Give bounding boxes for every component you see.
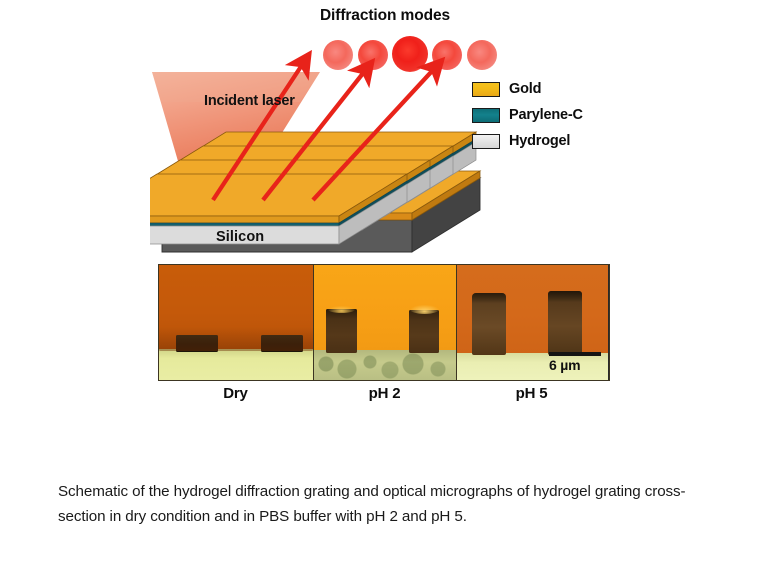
panel-caption-ph2: pH 2: [313, 385, 456, 402]
hydrogel-swatch-icon: [472, 134, 500, 149]
legend-label-gold: Gold: [509, 81, 541, 97]
incident-laser-label: Incident laser: [204, 93, 295, 109]
micrograph-panel-dry: [159, 265, 314, 380]
legend-label-hydrogel: Hydrogel: [509, 133, 570, 149]
legend-item-hydrogel: Hydrogel: [472, 129, 622, 153]
scale-bar: 6 µm: [549, 352, 605, 373]
hydrogel-cross-section: [326, 309, 357, 353]
panel-substrate: [159, 349, 313, 380]
panel-caption-dry: Dry: [158, 385, 313, 402]
silicon-label: Silicon: [216, 229, 264, 245]
legend-label-parylene: Parylene-C: [509, 107, 583, 123]
block-edge-shadow: [548, 291, 582, 302]
hydrogel-cross-section: [409, 310, 439, 353]
gold-swatch-icon: [472, 82, 500, 97]
scale-bar-line: [549, 352, 601, 356]
micrograph-strip: [158, 264, 610, 381]
panel-caption-ph5: pH 5: [456, 385, 607, 402]
panel-shadow-band: [159, 327, 313, 351]
substrate-bubble-texture: [314, 350, 456, 380]
figure-canvas: Diffraction modes: [0, 0, 770, 577]
legend-item-gold: Gold: [472, 77, 622, 101]
figure-caption: Schematic of the hydrogel diffraction gr…: [58, 479, 718, 529]
parylene-swatch-icon: [472, 108, 500, 123]
block-highlight: [328, 306, 355, 313]
block-highlight: [410, 305, 439, 314]
micrograph-panel-ph2: [314, 265, 457, 380]
diffraction-modes-title: Diffraction modes: [0, 7, 770, 25]
scale-bar-label: 6 µm: [549, 358, 605, 373]
block-edge-shadow: [472, 293, 506, 303]
legend-item-parylene: Parylene-C: [472, 103, 622, 127]
materials-legend: Gold Parylene-C Hydrogel: [472, 77, 622, 155]
